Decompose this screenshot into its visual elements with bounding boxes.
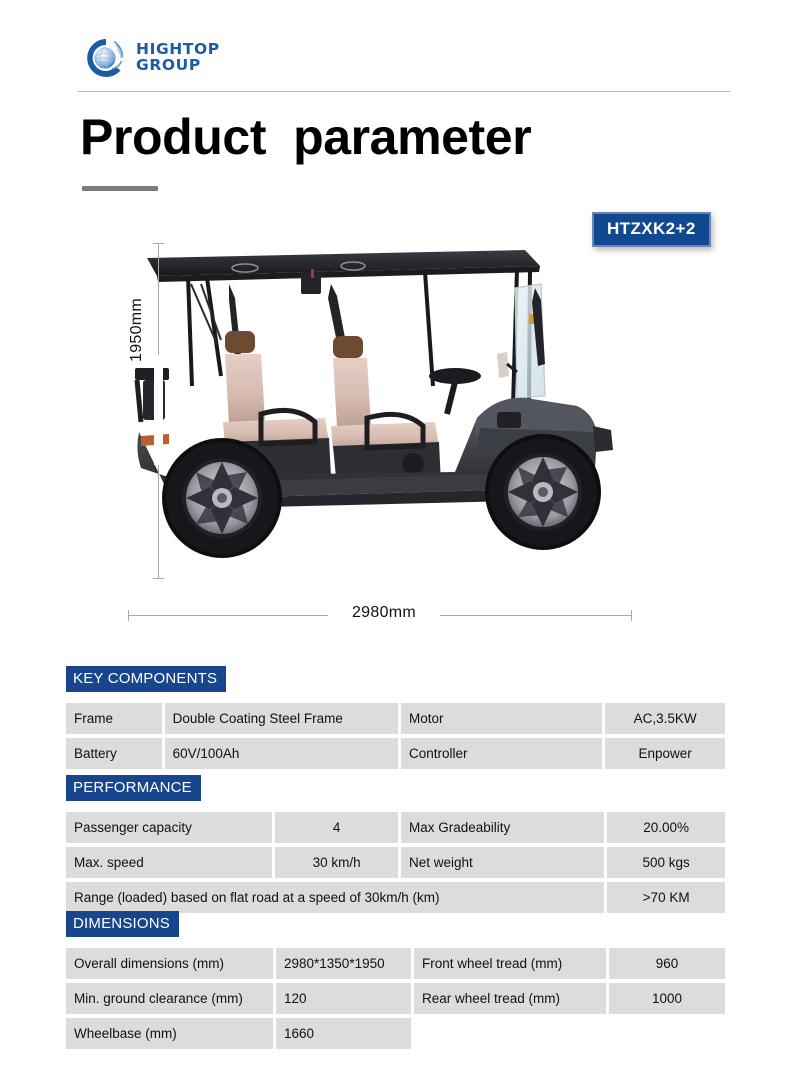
page-header: HIGHTOP GROUP: [78, 34, 730, 92]
length-dimension-label: 2980mm: [330, 604, 438, 622]
cell-value: 60V/100Ah: [165, 738, 398, 769]
cart-roof: [147, 250, 540, 294]
table-row: Max. speed 30 km/h Net weight 500 kgs: [66, 847, 725, 878]
cell-label: Overall dimensions (mm): [66, 948, 273, 979]
cell-label: Passenger capacity: [66, 812, 272, 843]
cart-rear-wheel: [164, 440, 280, 556]
cell-label: Max. speed: [66, 847, 272, 878]
cell-value: 1000: [609, 983, 725, 1014]
table-row: Wheelbase (mm) 1660: [66, 1018, 725, 1049]
length-dimension-cap-right: [631, 610, 632, 621]
table-row: Range (loaded) based on flat road at a s…: [66, 882, 725, 913]
brand-line-2: GROUP: [136, 58, 220, 74]
cell-value: 960: [609, 948, 725, 979]
section-title-key-components: KEY COMPONENTS: [66, 666, 226, 692]
height-dimension-label: 1950mm: [128, 298, 146, 362]
table-row: Overall dimensions (mm) 2980*1350*1950 F…: [66, 948, 725, 979]
cart-front-wheel: [487, 436, 599, 548]
cell-label: Max Gradeability: [401, 812, 604, 843]
cell-label: Front wheel tread (mm): [414, 948, 606, 979]
cell-empty: [609, 1018, 725, 1049]
cell-value: Double Coating Steel Frame: [165, 703, 398, 734]
length-dimension-line-right: [440, 615, 632, 616]
cart-rear-rack: [135, 368, 169, 422]
height-dimension-cap-top: [153, 243, 164, 244]
cell-label: Battery: [66, 738, 162, 769]
cart-front-seat: [331, 336, 441, 488]
product-figure: 1950mm 2980mm: [70, 230, 730, 630]
key-components-table: Frame Double Coating Steel Frame Motor A…: [63, 699, 728, 773]
header-divider: [78, 91, 730, 92]
section-title-dimensions: DIMENSIONS: [66, 911, 179, 937]
length-dimension-line-left: [128, 615, 328, 616]
brand-wordmark: HIGHTOP GROUP: [136, 42, 220, 74]
height-dimension-label-gap: [154, 355, 163, 465]
table-row: Passenger capacity 4 Max Gradeability 20…: [66, 812, 725, 843]
brand-logo: HIGHTOP GROUP: [84, 36, 220, 80]
cell-label: Rear wheel tread (mm): [414, 983, 606, 1014]
cell-value: 2980*1350*1950: [276, 948, 411, 979]
cell-empty: [414, 1018, 606, 1049]
cell-label: Motor: [401, 703, 602, 734]
cell-value: Enpower: [605, 738, 725, 769]
section-dimensions: DIMENSIONS Overall dimensions (mm) 2980*…: [66, 911, 731, 1053]
section-performance: PERFORMANCE Passenger capacity 4 Max Gra…: [66, 775, 731, 917]
cell-value: 20.00%: [607, 812, 725, 843]
height-dimension-cap-bottom: [153, 578, 164, 579]
length-dimension-cap-left: [128, 610, 129, 621]
table-row: Min. ground clearance (mm) 120 Rear whee…: [66, 983, 725, 1014]
cell-value: >70 KM: [607, 882, 725, 913]
section-key-components: KEY COMPONENTS Frame Double Coating Stee…: [66, 666, 731, 773]
cell-value: AC,3.5KW: [605, 703, 725, 734]
performance-table: Passenger capacity 4 Max Gradeability 20…: [63, 808, 728, 917]
cell-label: Min. ground clearance (mm): [66, 983, 273, 1014]
section-title-performance: PERFORMANCE: [66, 775, 201, 801]
title-underline-bar: [82, 186, 158, 191]
cell-label: Controller: [401, 738, 602, 769]
table-row: Battery 60V/100Ah Controller Enpower: [66, 738, 725, 769]
table-row: Frame Double Coating Steel Frame Motor A…: [66, 703, 725, 734]
cart-steering-wheel: [429, 368, 481, 414]
page-title: Product parameter: [80, 108, 531, 166]
cell-label: Net weight: [401, 847, 604, 878]
cell-label: Wheelbase (mm): [66, 1018, 273, 1049]
cart-front-bumper: [593, 426, 613, 452]
hightop-globe-logo-icon: [84, 36, 128, 80]
cell-value: 4: [275, 812, 398, 843]
cell-label: Frame: [66, 703, 162, 734]
cell-value: 500 kgs: [607, 847, 725, 878]
cell-value: 1660: [276, 1018, 411, 1049]
cell-value: 30 km/h: [275, 847, 398, 878]
cell-value: 120: [276, 983, 411, 1014]
golf-cart-photo: [125, 236, 635, 566]
dimensions-table: Overall dimensions (mm) 2980*1350*1950 F…: [63, 944, 728, 1053]
cell-label: Range (loaded) based on flat road at a s…: [66, 882, 604, 913]
